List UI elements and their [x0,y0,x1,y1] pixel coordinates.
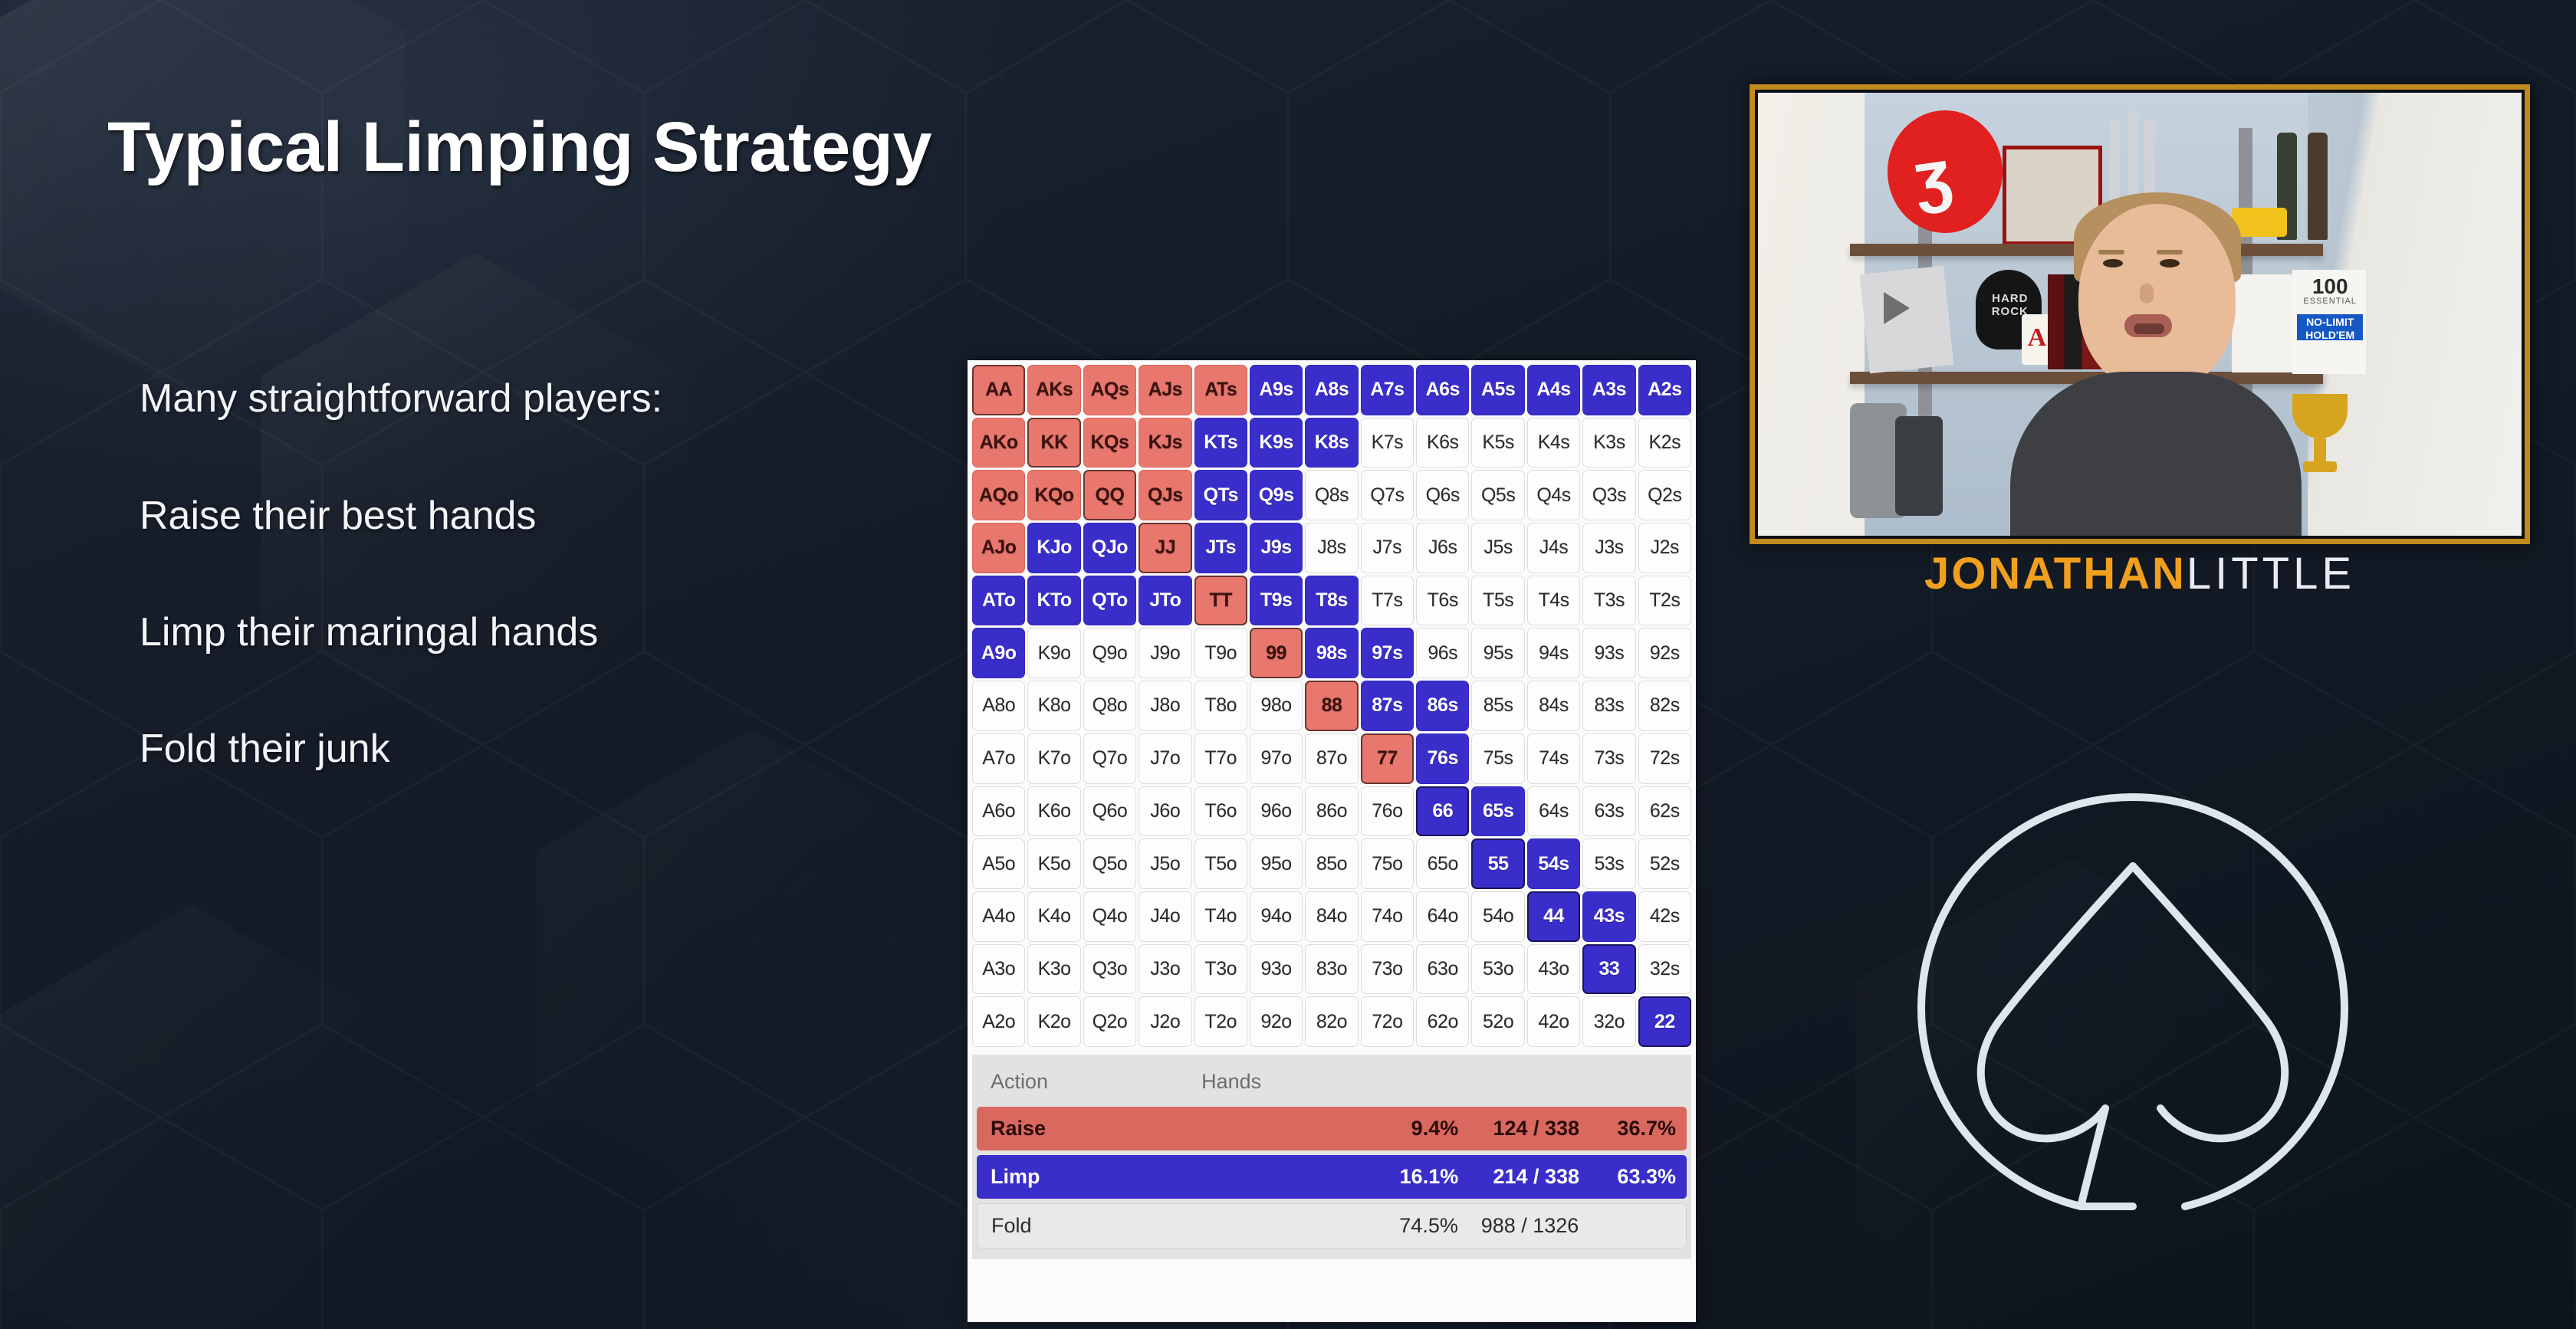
action-label-raise: Raise [977,1117,1201,1140]
range-cell-82o[interactable]: 82o [1305,996,1358,1047]
range-cell-TT[interactable]: TT [1194,576,1247,626]
presenter-first-name: JONATHAN [1924,548,2187,599]
range-cell-86o[interactable]: 86o [1305,786,1358,837]
webcam-gold-trophy-cup [2292,394,2348,478]
range-cell-T5s[interactable]: T5s [1471,576,1524,626]
range-cell-Q8s[interactable]: Q8s [1305,470,1358,520]
range-cell-94o[interactable]: 94o [1250,891,1303,942]
range-cell-Q8o[interactable]: Q8o [1083,681,1136,731]
range-cell-Q7o[interactable]: Q7o [1083,733,1136,784]
range-cell-Q7s[interactable]: Q7s [1361,470,1414,520]
range-cell-Q3s[interactable]: Q3s [1582,470,1635,520]
range-cell-83s[interactable]: 83s [1582,681,1635,731]
range-cell-62s[interactable]: 62s [1638,786,1691,837]
range-cell-T6s[interactable]: T6s [1416,576,1469,626]
bullet-line-2: Raise their best hands [140,493,536,539]
range-cell-K9s[interactable]: K9s [1250,418,1303,468]
range-cell-53o[interactable]: 53o [1471,944,1524,995]
range-cell-97o[interactable]: 97o [1250,733,1303,784]
bullet-line-3: Limp their maringal hands [140,609,598,655]
range-cell-A5o[interactable]: A5o [972,838,1025,889]
range-cell-AQo[interactable]: AQo [972,470,1025,520]
range-cell-KQo[interactable]: KQo [1027,470,1080,520]
range-cell-96s[interactable]: 96s [1416,628,1469,678]
range-cell-55[interactable]: 55 [1471,838,1524,889]
range-cell-T7o[interactable]: T7o [1194,733,1247,784]
presenter-torso [2010,372,2302,536]
range-cell-82s[interactable]: 82s [1638,681,1691,731]
table-row-fold[interactable]: Fold 74.5% 988 / 1326 [977,1203,1687,1249]
range-cell-J8o[interactable]: J8o [1138,681,1191,731]
range-cell-42o[interactable]: 42o [1527,996,1580,1047]
range-cell-K3s[interactable]: K3s [1582,418,1635,468]
range-cell-99[interactable]: 99 [1250,628,1303,678]
range-cell-93o[interactable]: 93o [1250,944,1303,995]
range-cell-64s[interactable]: 64s [1527,786,1580,837]
bullet-line-1: Many straightforward players: [140,376,662,422]
range-cell-T7s[interactable]: T7s [1361,576,1414,626]
range-cell-85s[interactable]: 85s [1471,681,1524,731]
range-cell-A3s[interactable]: A3s [1582,365,1635,415]
range-cell-98o[interactable]: 98o [1250,681,1303,731]
range-cell-T4s[interactable]: T4s [1527,576,1580,626]
spade-logo [1872,774,2394,1295]
table-row-raise[interactable]: Raise 9.4% 124 / 338 36.7% [977,1107,1687,1150]
presenter-last-name: LITTLE [2187,548,2355,599]
range-cell-75s[interactable]: 75s [1471,733,1524,784]
range-cell-A6o[interactable]: A6o [972,786,1025,837]
range-cell-AJo[interactable]: AJo [972,523,1025,573]
range-cell-A6s[interactable]: A6s [1416,365,1469,415]
range-cell-92s[interactable]: 92s [1638,628,1691,678]
table-row-limp[interactable]: Limp 16.1% 214 / 338 63.3% [977,1155,1687,1199]
range-cell-93s[interactable]: 93s [1582,628,1635,678]
range-cell-76o[interactable]: 76o [1361,786,1414,837]
range-cell-T2s[interactable]: T2s [1638,576,1691,626]
range-cell-QJo[interactable]: QJo [1083,523,1136,573]
range-cell-J5o[interactable]: J5o [1138,838,1191,889]
range-cell-T9s[interactable]: T9s [1250,576,1303,626]
range-cell-T3s[interactable]: T3s [1582,576,1635,626]
range-cell-J9s[interactable]: J9s [1250,523,1303,573]
range-cell-65o[interactable]: 65o [1416,838,1469,889]
range-cell-54s[interactable]: 54s [1527,838,1580,889]
range-cell-32o[interactable]: 32o [1582,996,1635,1047]
bullet-line-4: Fold their junk [140,726,390,772]
range-cell-Q6o[interactable]: Q6o [1083,786,1136,837]
range-cell-32s[interactable]: 32s [1638,944,1691,995]
range-cell-J2o[interactable]: J2o [1138,996,1191,1047]
range-cell-66[interactable]: 66 [1416,786,1469,837]
action-summary-table: Action Hands Raise 9.4% 124 / 338 36.7% … [972,1055,1691,1259]
fold-fraction: 988 / 1326 [1458,1214,1583,1238]
webcam-cup-base [2303,461,2337,472]
range-cell-A8o[interactable]: A8o [972,681,1025,731]
range-cell-J3s[interactable]: J3s [1582,523,1635,573]
presenter-head [2078,204,2236,392]
range-cell-73s[interactable]: 73s [1582,733,1635,784]
range-cell-A5s[interactable]: A5s [1471,365,1524,415]
range-cell-54o[interactable]: 54o [1471,891,1524,942]
range-cell-73o[interactable]: 73o [1361,944,1414,995]
range-cell-KK[interactable]: KK [1027,418,1080,468]
range-cell-K2s[interactable]: K2s [1638,418,1691,468]
range-cell-92o[interactable]: 92o [1250,996,1303,1047]
range-cell-QTo[interactable]: QTo [1083,576,1136,626]
range-cell-J3o[interactable]: J3o [1138,944,1191,995]
range-cell-K8s[interactable]: K8s [1305,418,1358,468]
presenter-webcam-video: ʒ HARDROCK A 100 ESSENTIAL NO-LIMITHOLD'… [1758,93,2522,536]
range-cell-T8s[interactable]: T8s [1305,576,1358,626]
range-cell-Q4s[interactable]: Q4s [1527,470,1580,520]
range-cell-52s[interactable]: 52s [1638,838,1691,889]
range-cell-K6s[interactable]: K6s [1416,418,1469,468]
column-header-action: Action [977,1070,1201,1094]
table-header-row: Action Hands [977,1058,1687,1105]
hand-range-grid[interactable]: AAAKsAQsAJsATsA9sA8sA7sA6sA5sA4sA3sA2sAK… [972,365,1691,1047]
range-cell-QJs[interactable]: QJs [1138,470,1191,520]
range-cell-T3o[interactable]: T3o [1194,944,1247,995]
range-cell-K4o[interactable]: K4o [1027,891,1080,942]
range-cell-77[interactable]: 77 [1361,733,1414,784]
range-cell-Q3o[interactable]: Q3o [1083,944,1136,995]
range-cell-JTs[interactable]: JTs [1194,523,1247,573]
range-cell-K7o[interactable]: K7o [1027,733,1080,784]
limp-share: 63.3% [1584,1165,1687,1189]
webcam-cup-bowl [2292,394,2348,438]
action-label-fold: Fold [978,1214,1202,1238]
range-cell-ATs[interactable]: ATs [1194,365,1247,415]
range-cell-86s[interactable]: 86s [1416,681,1469,731]
webcam-book-title-100: 100 [2297,274,2363,299]
range-cell-87s[interactable]: 87s [1361,681,1414,731]
range-cell-84o[interactable]: 84o [1305,891,1358,942]
webcam-speaker-2 [1895,416,1943,516]
range-cell-T8o[interactable]: T8o [1194,681,1247,731]
presenter-webcam-frame: ʒ HARDROCK A 100 ESSENTIAL NO-LIMITHOLD'… [1750,84,2530,544]
webcam-ace-letter: A [2028,323,2047,353]
range-cell-95o[interactable]: 95o [1250,838,1303,889]
range-cell-72s[interactable]: 72s [1638,733,1691,784]
range-cell-JTo[interactable]: JTo [1138,576,1191,626]
range-cell-63s[interactable]: 63s [1582,786,1635,837]
range-cell-KTs[interactable]: KTs [1194,418,1247,468]
range-cell-J4s[interactable]: J4s [1527,523,1580,573]
range-cell-K4s[interactable]: K4s [1527,418,1580,468]
presenter-name-bar: JONATHAN LITTLE [1750,546,2530,601]
raise-fraction: 124 / 338 [1458,1117,1584,1140]
range-cell-J4o[interactable]: J4o [1138,891,1191,942]
range-cell-Q2o[interactable]: Q2o [1083,996,1136,1047]
range-cell-QTs[interactable]: QTs [1194,470,1247,520]
range-cell-65s[interactable]: 65s [1471,786,1524,837]
range-cell-75o[interactable]: 75o [1361,838,1414,889]
limp-fraction: 214 / 338 [1458,1165,1584,1189]
range-cell-83o[interactable]: 83o [1305,944,1358,995]
raise-share: 36.7% [1584,1117,1687,1140]
range-cell-J6o[interactable]: J6o [1138,786,1191,837]
range-cell-Q5o[interactable]: Q5o [1083,838,1136,889]
range-cell-KQs[interactable]: KQs [1083,418,1136,468]
range-cell-84s[interactable]: 84s [1527,681,1580,731]
range-cell-KJs[interactable]: KJs [1138,418,1191,468]
range-cell-K7s[interactable]: K7s [1361,418,1414,468]
range-cell-ATo[interactable]: ATo [972,576,1025,626]
range-cell-A7o[interactable]: A7o [972,733,1025,784]
webcam-bottle-2 [2308,133,2328,240]
range-cell-J8s[interactable]: J8s [1305,523,1358,573]
range-cell-J7s[interactable]: J7s [1361,523,1414,573]
range-cell-Q6s[interactable]: Q6s [1416,470,1469,520]
range-cell-JJ[interactable]: JJ [1138,523,1191,573]
play-icon [1884,292,1910,324]
range-cell-22[interactable]: 22 [1638,996,1691,1047]
range-cell-A2o[interactable]: A2o [972,996,1025,1047]
range-cell-K3o[interactable]: K3o [1027,944,1080,995]
range-cell-K2o[interactable]: K2o [1027,996,1080,1047]
presenter-brow-right [2157,250,2183,254]
range-cell-72o[interactable]: 72o [1361,996,1414,1047]
range-cell-94s[interactable]: 94s [1527,628,1580,678]
slide-text-column: Typical Limping Strategy Many straightfo… [0,0,951,1329]
range-cell-98s[interactable]: 98s [1305,628,1358,678]
range-cell-33[interactable]: 33 [1582,944,1635,995]
range-cell-T6o[interactable]: T6o [1194,786,1247,837]
range-cell-Q2s[interactable]: Q2s [1638,470,1691,520]
range-cell-44[interactable]: 44 [1527,891,1580,942]
range-cell-85o[interactable]: 85o [1305,838,1358,889]
range-cell-K6o[interactable]: K6o [1027,786,1080,837]
range-cell-63o[interactable]: 63o [1416,944,1469,995]
range-cell-43s[interactable]: 43s [1582,891,1635,942]
presenter-eye-left [2103,259,2123,267]
presenter-nose [2140,284,2154,304]
fold-percent: 74.5% [1370,1214,1457,1238]
range-cell-87o[interactable]: 87o [1305,733,1358,784]
range-cell-AKs[interactable]: AKs [1027,365,1080,415]
range-cell-AQs[interactable]: AQs [1083,365,1136,415]
range-cell-AA[interactable]: AA [972,365,1025,415]
range-cell-K8o[interactable]: K8o [1027,681,1080,731]
presenter-mouth-inner [2134,323,2164,334]
range-cell-J9o[interactable]: J9o [1138,628,1191,678]
range-cell-J6s[interactable]: J6s [1416,523,1469,573]
range-cell-J2s[interactable]: J2s [1638,523,1691,573]
range-cell-64o[interactable]: 64o [1416,891,1469,942]
range-cell-K9o[interactable]: K9o [1027,628,1080,678]
range-cell-T9o[interactable]: T9o [1194,628,1247,678]
range-cell-62o[interactable]: 62o [1416,996,1469,1047]
range-cell-T5o[interactable]: T5o [1194,838,1247,889]
range-cell-AKo[interactable]: AKo [972,418,1025,468]
range-cell-74o[interactable]: 74o [1361,891,1414,942]
range-cell-Q4o[interactable]: Q4o [1083,891,1136,942]
range-cell-A8s[interactable]: A8s [1305,365,1358,415]
range-cell-Q5s[interactable]: Q5s [1471,470,1524,520]
presenter-brow-left [2098,250,2124,254]
range-cell-95s[interactable]: 95s [1471,628,1524,678]
range-cell-88[interactable]: 88 [1305,681,1358,731]
range-cell-AJs[interactable]: AJs [1138,365,1191,415]
raise-percent: 9.4% [1371,1117,1459,1140]
range-cell-53s[interactable]: 53s [1582,838,1635,889]
range-cell-97s[interactable]: 97s [1361,628,1414,678]
range-cell-A9o[interactable]: A9o [972,628,1025,678]
range-cell-A4o[interactable]: A4o [972,891,1025,942]
range-cell-KTo[interactable]: KTo [1027,576,1080,626]
range-cell-A2s[interactable]: A2s [1638,365,1691,415]
range-cell-J7o[interactable]: J7o [1138,733,1191,784]
range-cell-Q9o[interactable]: Q9o [1083,628,1136,678]
presenter-eye-right [2160,259,2180,267]
limp-percent: 16.1% [1371,1165,1459,1189]
range-cell-42s[interactable]: 42s [1638,891,1691,942]
page-title: Typical Limping Strategy [107,107,932,188]
range-cell-A4s[interactable]: A4s [1527,365,1580,415]
action-label-limp: Limp [977,1165,1201,1189]
range-cell-K5o[interactable]: K5o [1027,838,1080,889]
range-cell-A3o[interactable]: A3o [972,944,1025,995]
range-cell-96o[interactable]: 96o [1250,786,1303,837]
poker-range-chart-panel: AAAKsAQsAJsATsA9sA8sA7sA6sA5sA4sA3sA2sAK… [968,360,1696,1322]
webcam-book-subtitle: ESSENTIAL [2297,297,2363,306]
column-header-hands: Hands [1201,1070,1370,1094]
range-cell-A7s[interactable]: A7s [1361,365,1414,415]
range-cell-T2o[interactable]: T2o [1194,996,1247,1047]
webcam-book-banner: NO-LIMITHOLD'EM [2297,314,2363,340]
range-cell-KJo[interactable]: KJo [1027,523,1080,573]
range-cell-K5s[interactable]: K5s [1471,418,1524,468]
webcam-cup-stem [2314,438,2326,461]
range-cell-76s[interactable]: 76s [1416,733,1469,784]
range-cell-52o[interactable]: 52o [1471,996,1524,1047]
range-cell-T4o[interactable]: T4o [1194,891,1247,942]
range-cell-J5s[interactable]: J5s [1471,523,1524,573]
range-cell-74s[interactable]: 74s [1527,733,1580,784]
range-cell-Q9s[interactable]: Q9s [1250,470,1303,520]
range-cell-43o[interactable]: 43o [1527,944,1580,995]
range-cell-QQ[interactable]: QQ [1083,470,1136,520]
range-cell-A9s[interactable]: A9s [1250,365,1303,415]
